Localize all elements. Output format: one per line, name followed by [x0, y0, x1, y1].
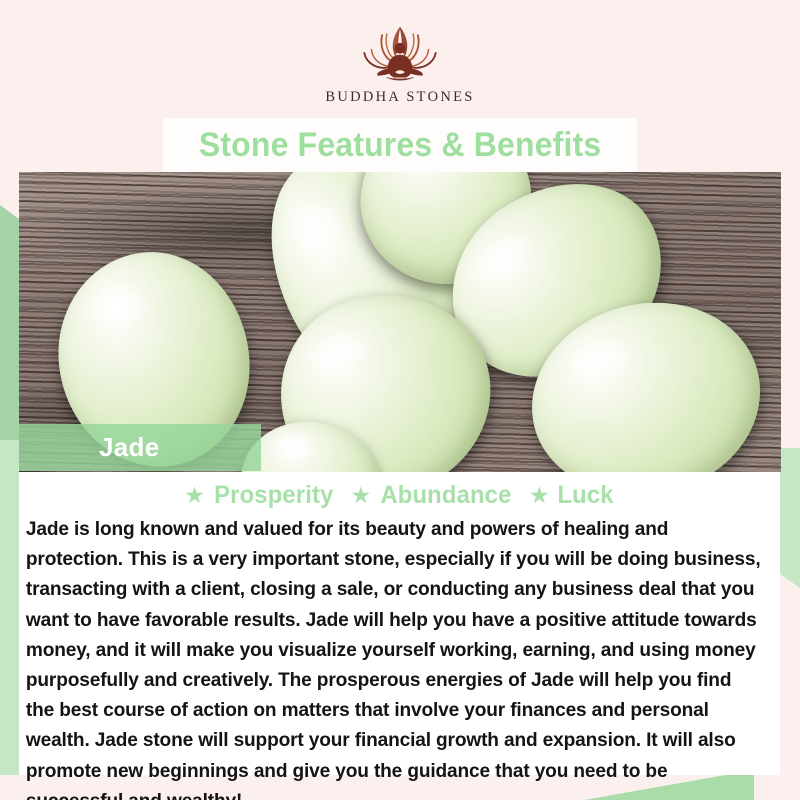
benefits-list: ★ Prosperity ★ Abundance ★ Luck: [19, 472, 780, 514]
benefit-item: ★ Abundance: [350, 481, 515, 510]
benefit-item: ★ Luck: [529, 481, 615, 510]
benefit-item: ★ Prosperity: [184, 481, 336, 510]
star-icon: ★: [184, 484, 205, 507]
content-panel: ★ Prosperity ★ Abundance ★ Luck Jade is …: [19, 472, 780, 775]
stone-name-label: Jade: [19, 424, 261, 471]
title-banner: Stone Features & Benefits: [163, 118, 637, 172]
benefit-label: Luck: [557, 481, 613, 510]
star-icon: ★: [350, 484, 371, 507]
stone-description: Jade is long known and valued for its be…: [19, 514, 769, 800]
page-title: Stone Features & Benefits: [199, 126, 602, 165]
stone-name-text: Jade: [99, 432, 159, 463]
stone-info-card: BUDDHA STONES Stone Features & Benefits …: [0, 0, 800, 800]
decorative-green-bar-left: [0, 205, 19, 445]
benefit-label: Abundance: [381, 481, 512, 510]
brand-name: BUDDHA STONES: [325, 89, 474, 106]
benefit-label: Prosperity: [214, 481, 333, 510]
brand-header: BUDDHA STONES: [0, 0, 800, 120]
decorative-green-bar-right: [780, 448, 800, 588]
lotus-meditation-logo-icon: [340, 22, 460, 84]
star-icon: ★: [529, 484, 550, 507]
